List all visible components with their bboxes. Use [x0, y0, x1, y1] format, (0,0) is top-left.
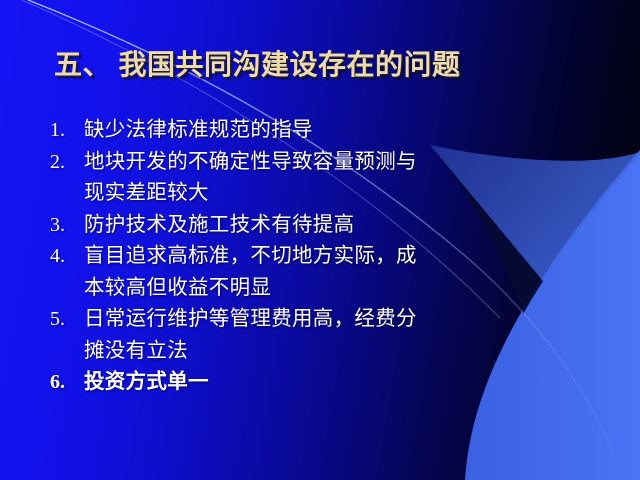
list-item-text: 防护技术及施工技术有待提高 [84, 210, 520, 242]
bullet-list: 1.缺少法律标准规范的指导2.地块开发的不确定性导致容量预测与现实差距较大3.防… [50, 115, 520, 399]
list-item-number: 2. [50, 147, 84, 179]
list-item-line: 缺少法律标准规范的指导 [84, 115, 520, 147]
list-item-line: 投资方式单一 [84, 367, 520, 399]
slide-content: 五、 我国共同沟建设存在的问题 1.缺少法律标准规范的指导2.地块开发的不确定性… [0, 0, 640, 480]
list-item-line: 摊没有立法 [84, 336, 520, 368]
list-item: 2.地块开发的不确定性导致容量预测与现实差距较大 [50, 147, 520, 210]
slide-title: 五、 我国共同沟建设存在的问题 [54, 43, 461, 83]
list-item-number: 5. [50, 304, 84, 336]
list-item-text: 日常运行维护等管理费用高，经费分摊没有立法 [84, 304, 520, 367]
list-item: 1.缺少法律标准规范的指导 [50, 115, 520, 147]
list-item: 6.投资方式单一 [50, 367, 520, 399]
list-item-line: 盲目追求高标准，不切地方实际，成 [84, 241, 520, 273]
list-item: 3.防护技术及施工技术有待提高 [50, 210, 520, 242]
list-item: 5.日常运行维护等管理费用高，经费分摊没有立法 [50, 304, 520, 367]
list-item: 4.盲目追求高标准，不切地方实际，成本较高但收益不明显 [50, 241, 520, 304]
list-item-line: 本较高但收益不明显 [84, 273, 520, 305]
list-item-line: 现实差距较大 [84, 178, 520, 210]
presentation-slide: 五、 我国共同沟建设存在的问题 1.缺少法律标准规范的指导2.地块开发的不确定性… [0, 0, 640, 480]
list-item-line: 日常运行维护等管理费用高，经费分 [84, 304, 520, 336]
list-item-text: 缺少法律标准规范的指导 [84, 115, 520, 147]
list-item-number: 4. [50, 241, 84, 273]
list-item-number: 1. [50, 115, 84, 147]
list-item-text: 盲目追求高标准，不切地方实际，成本较高但收益不明显 [84, 241, 520, 304]
list-item-line: 防护技术及施工技术有待提高 [84, 210, 520, 242]
list-item-line: 地块开发的不确定性导致容量预测与 [84, 147, 520, 179]
list-item-text: 投资方式单一 [84, 367, 520, 399]
list-item-number: 3. [50, 210, 84, 242]
list-item-text: 地块开发的不确定性导致容量预测与现实差距较大 [84, 147, 520, 210]
list-item-number: 6. [50, 367, 84, 399]
